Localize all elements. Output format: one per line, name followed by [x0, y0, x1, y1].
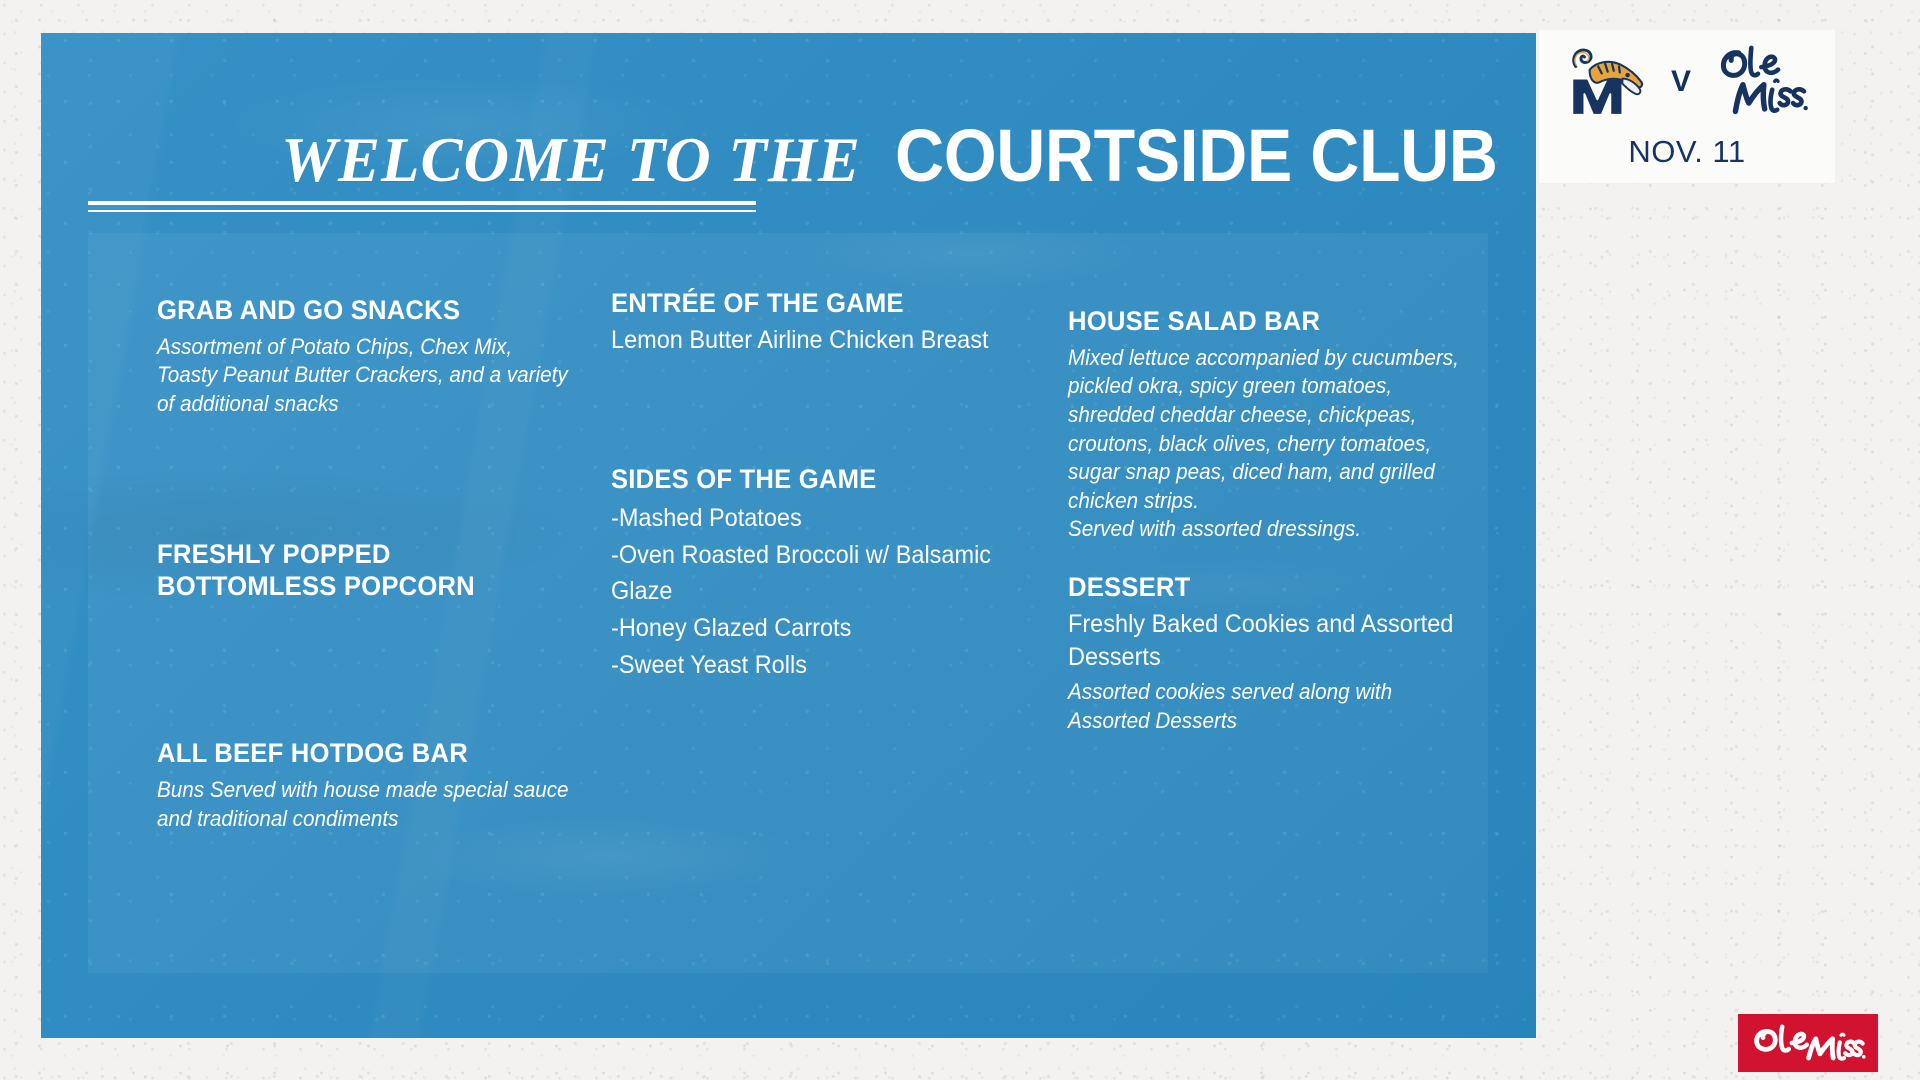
- menu-column-1: GRAB AND GO SNACKS Assortment of Potato …: [157, 233, 597, 833]
- section-description: Buns Served with house made special sauc…: [157, 776, 571, 833]
- section-title: SIDES OF THE GAME: [611, 464, 1020, 496]
- section-title: GRAB AND GO SNACKS: [157, 295, 575, 327]
- menu-poster-panel: WELCOME TO THE COURTSIDE CLUB GRAB AND G…: [41, 33, 1536, 1038]
- section-description: Mixed lettuce accompanied by cucumbers, …: [1068, 344, 1477, 544]
- section-description: Assortment of Potato Chips, Chex Mix, To…: [157, 333, 571, 419]
- menu-section-grab-and-go: GRAB AND GO SNACKS Assortment of Potato …: [157, 295, 597, 419]
- ole-miss-logo-icon: [1749, 1022, 1867, 1064]
- matchup-row: V: [1539, 30, 1835, 134]
- section-title: ENTRÉE OF THE GAME: [611, 288, 1020, 320]
- menu-section-popcorn: FRESHLY POPPED BOTTOMLESS POPCORN: [157, 539, 597, 603]
- ole-miss-script-logo-icon: [1717, 44, 1807, 120]
- section-description: -Mashed Potatoes -Oven Roasted Broccoli …: [611, 500, 1015, 684]
- game-date: NOV. 11: [1628, 136, 1745, 167]
- memphis-tigers-logo-icon: [1567, 44, 1645, 120]
- menu-column-2: ENTRÉE OF THE GAME Lemon Butter Airline …: [611, 233, 1041, 684]
- title-divider-rule: [88, 201, 756, 212]
- title-row: WELCOME TO THE COURTSIDE CLUB: [281, 119, 1536, 193]
- section-description: Freshly Baked Cookies and Assorted Desse…: [1068, 608, 1477, 675]
- divider-line-thin: [88, 210, 756, 212]
- menu-section-sides: SIDES OF THE GAME -Mashed Potatoes -Oven…: [611, 464, 1041, 684]
- poster-header: WELCOME TO THE COURTSIDE CLUB: [41, 33, 1536, 238]
- section-title: ALL BEEF HOTDOG BAR: [157, 738, 575, 770]
- menu-section-salad-bar: HOUSE SALAD BAR Mixed lettuce accompanie…: [1068, 306, 1503, 544]
- menu-section-hotdog-bar: ALL BEEF HOTDOG BAR Buns Served with hou…: [157, 738, 597, 833]
- menu-column-3: HOUSE SALAD BAR Mixed lettuce accompanie…: [1068, 233, 1503, 736]
- section-title: HOUSE SALAD BAR: [1068, 306, 1481, 338]
- menu-section-entree: ENTRÉE OF THE GAME Lemon Butter Airline …: [611, 288, 1041, 357]
- venue-title: COURTSIDE CLUB: [895, 119, 1497, 193]
- ole-miss-footer-badge: [1738, 1014, 1878, 1072]
- welcome-text: WELCOME TO THE: [281, 129, 861, 192]
- divider-line-thick: [88, 201, 756, 205]
- matchup-logo-card: V NOV. 11: [1539, 30, 1835, 183]
- menu-columns: GRAB AND GO SNACKS Assortment of Potato …: [88, 233, 1488, 973]
- section-sub-description: Assorted cookies served along with Assor…: [1068, 678, 1477, 735]
- menu-section-dessert: DESSERT Freshly Baked Cookies and Assort…: [1068, 572, 1503, 736]
- section-title: FRESHLY POPPED BOTTOMLESS POPCORN: [157, 539, 532, 603]
- section-description: Lemon Butter Airline Chicken Breast: [611, 324, 1015, 357]
- section-title: DESSERT: [1068, 572, 1481, 604]
- versus-label: V: [1671, 67, 1691, 97]
